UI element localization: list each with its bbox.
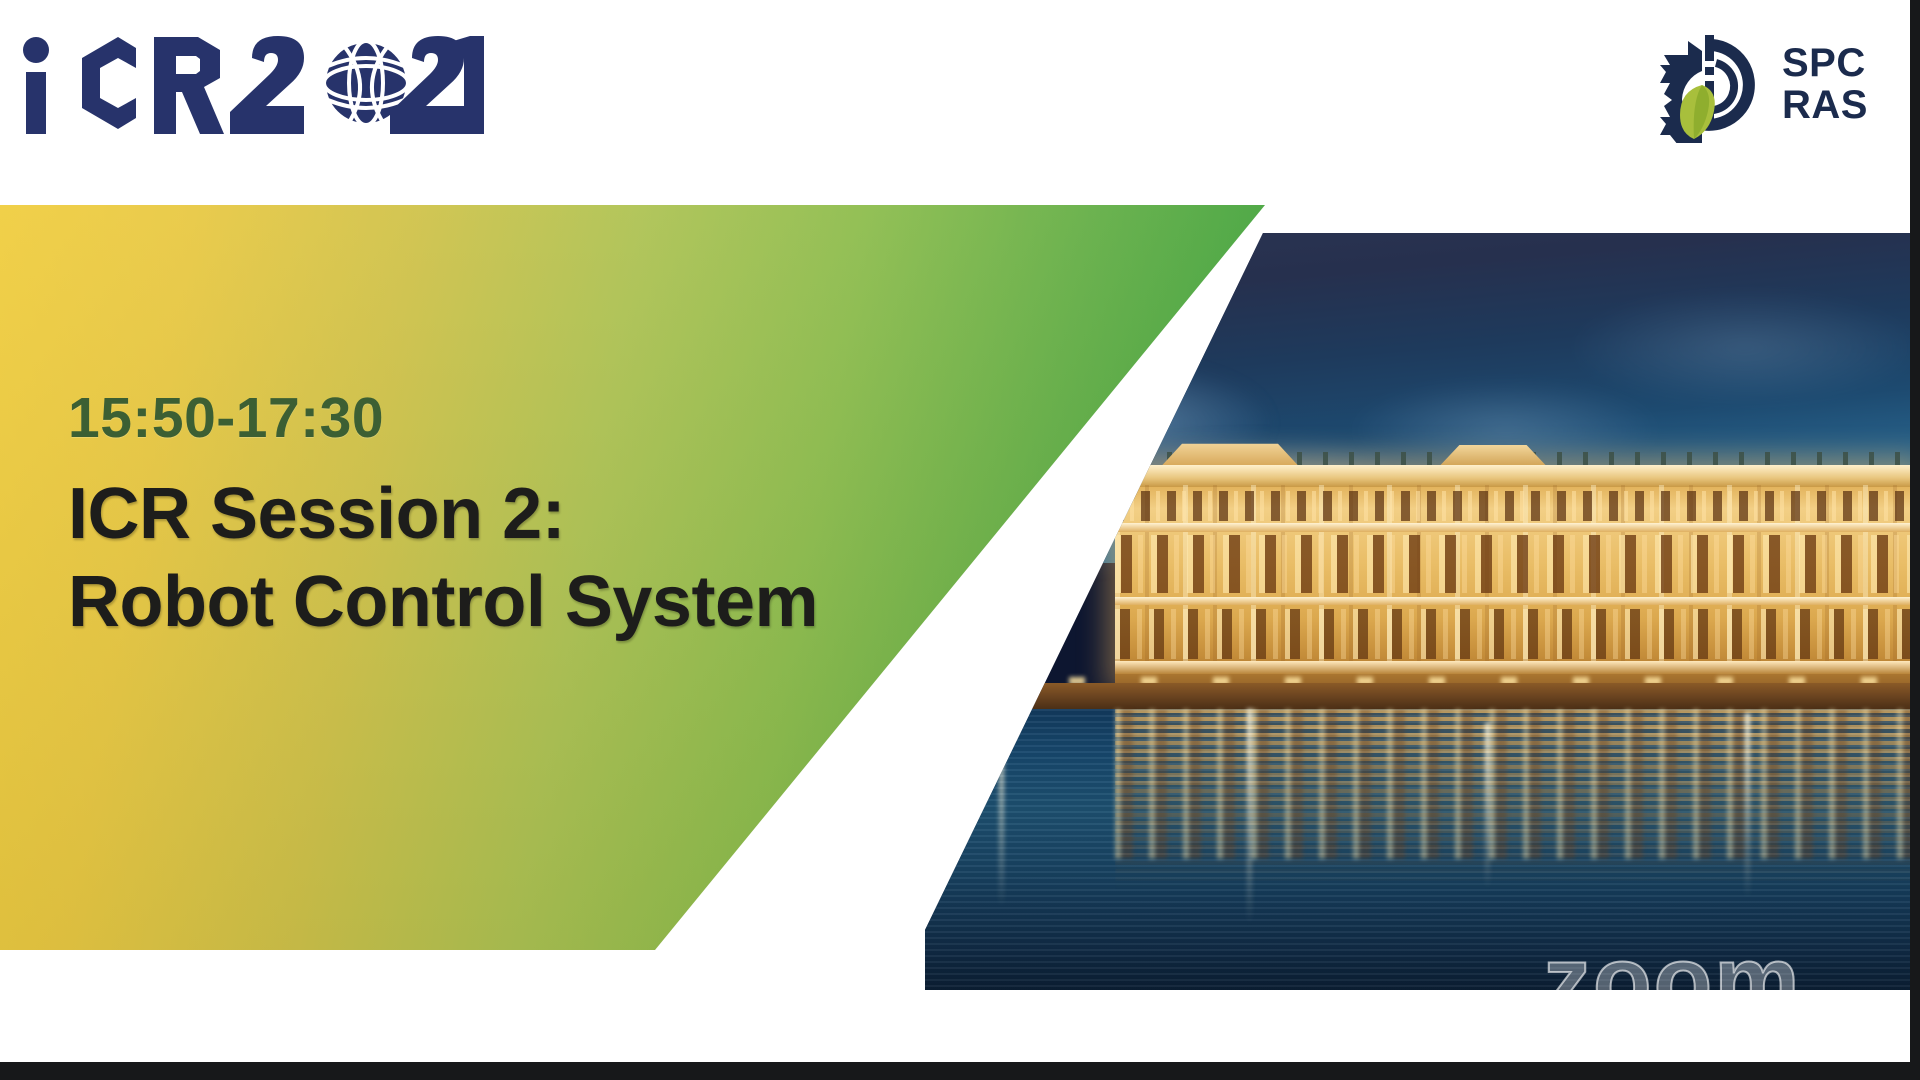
slide-canvas: SPC RAS 15:50-17:30 ICR Session 2: Robot… xyxy=(0,0,1920,1080)
icr-2021-logo xyxy=(14,28,484,138)
session-title-line2: Robot Control System xyxy=(68,559,968,647)
cornice xyxy=(1115,597,1910,605)
slide-header: SPC RAS xyxy=(0,0,1920,168)
cornice xyxy=(1115,661,1910,674)
spc-ras-label: SPC RAS xyxy=(1782,42,1868,127)
session-info: 15:50-17:30 ICR Session 2: Robot Control… xyxy=(68,390,968,647)
embankment-wall xyxy=(925,683,1910,709)
session-title: ICR Session 2: Robot Control System xyxy=(68,471,968,647)
spc-ras-line1: SPC xyxy=(1782,41,1866,85)
spc-ras-logo: SPC RAS xyxy=(1650,24,1900,144)
cornice xyxy=(1115,523,1910,532)
water-ripples xyxy=(925,709,1910,990)
window-row xyxy=(1115,535,1910,593)
palace-facade xyxy=(1115,465,1910,683)
roofline xyxy=(1115,465,1910,487)
icr-2021-logo-graphic xyxy=(14,28,484,138)
spc-ras-line2: RAS xyxy=(1782,83,1868,127)
session-title-line1: ICR Session 2: xyxy=(68,471,968,559)
spc-ras-gear-icon xyxy=(1650,25,1768,143)
cloud xyxy=(1575,293,1910,403)
session-time: 15:50-17:30 xyxy=(68,390,968,447)
right-border xyxy=(1910,0,1920,1080)
window-row xyxy=(1115,491,1910,521)
window-row xyxy=(1115,609,1910,659)
neva-river xyxy=(925,709,1910,990)
bottom-border xyxy=(0,1062,1920,1080)
